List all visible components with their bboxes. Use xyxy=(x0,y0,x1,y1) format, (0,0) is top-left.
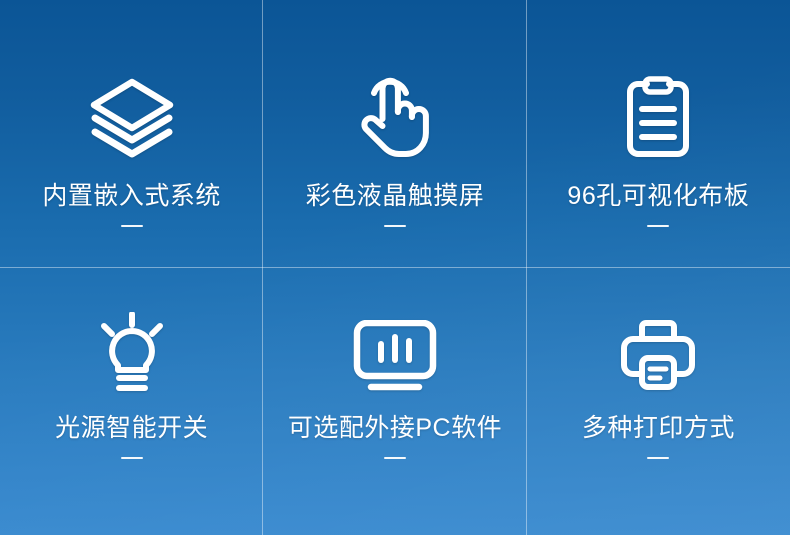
clipboard-icon xyxy=(625,62,691,158)
feature-label: 96孔可视化布板 xyxy=(567,184,749,209)
feature-underline xyxy=(384,457,406,459)
feature-label: 多种打印方式 xyxy=(582,416,735,441)
touch-hand-icon xyxy=(358,62,432,158)
feature-label: 光源智能开关 xyxy=(55,416,208,441)
feature-cell-light-switch[interactable]: 光源智能开关 xyxy=(0,268,263,535)
feature-underline xyxy=(647,457,669,459)
feature-underline xyxy=(121,457,143,459)
monitor-chart-icon xyxy=(353,296,437,392)
feature-cell-pc-software[interactable]: 可选配外接PC软件 xyxy=(263,268,526,535)
feature-label: 彩色液晶触摸屏 xyxy=(306,184,485,209)
feature-cell-embedded-system[interactable]: 内置嵌入式系统 xyxy=(0,0,263,268)
layers-icon xyxy=(89,62,175,158)
lightbulb-icon xyxy=(94,296,170,392)
feature-banner: 内置嵌入式系统 彩色液晶触摸屏 xyxy=(0,0,790,535)
feature-cell-96-well-plate[interactable]: 96孔可视化布板 xyxy=(527,0,790,268)
feature-underline xyxy=(384,225,406,227)
feature-grid: 内置嵌入式系统 彩色液晶触摸屏 xyxy=(0,0,790,535)
feature-label: 内置嵌入式系统 xyxy=(42,184,221,209)
feature-cell-lcd-touchscreen[interactable]: 彩色液晶触摸屏 xyxy=(263,0,526,268)
feature-cell-printing-methods[interactable]: 多种打印方式 xyxy=(527,268,790,535)
feature-underline xyxy=(121,225,143,227)
feature-label: 可选配外接PC软件 xyxy=(288,416,502,441)
printer-icon xyxy=(620,296,696,392)
feature-underline xyxy=(647,225,669,227)
